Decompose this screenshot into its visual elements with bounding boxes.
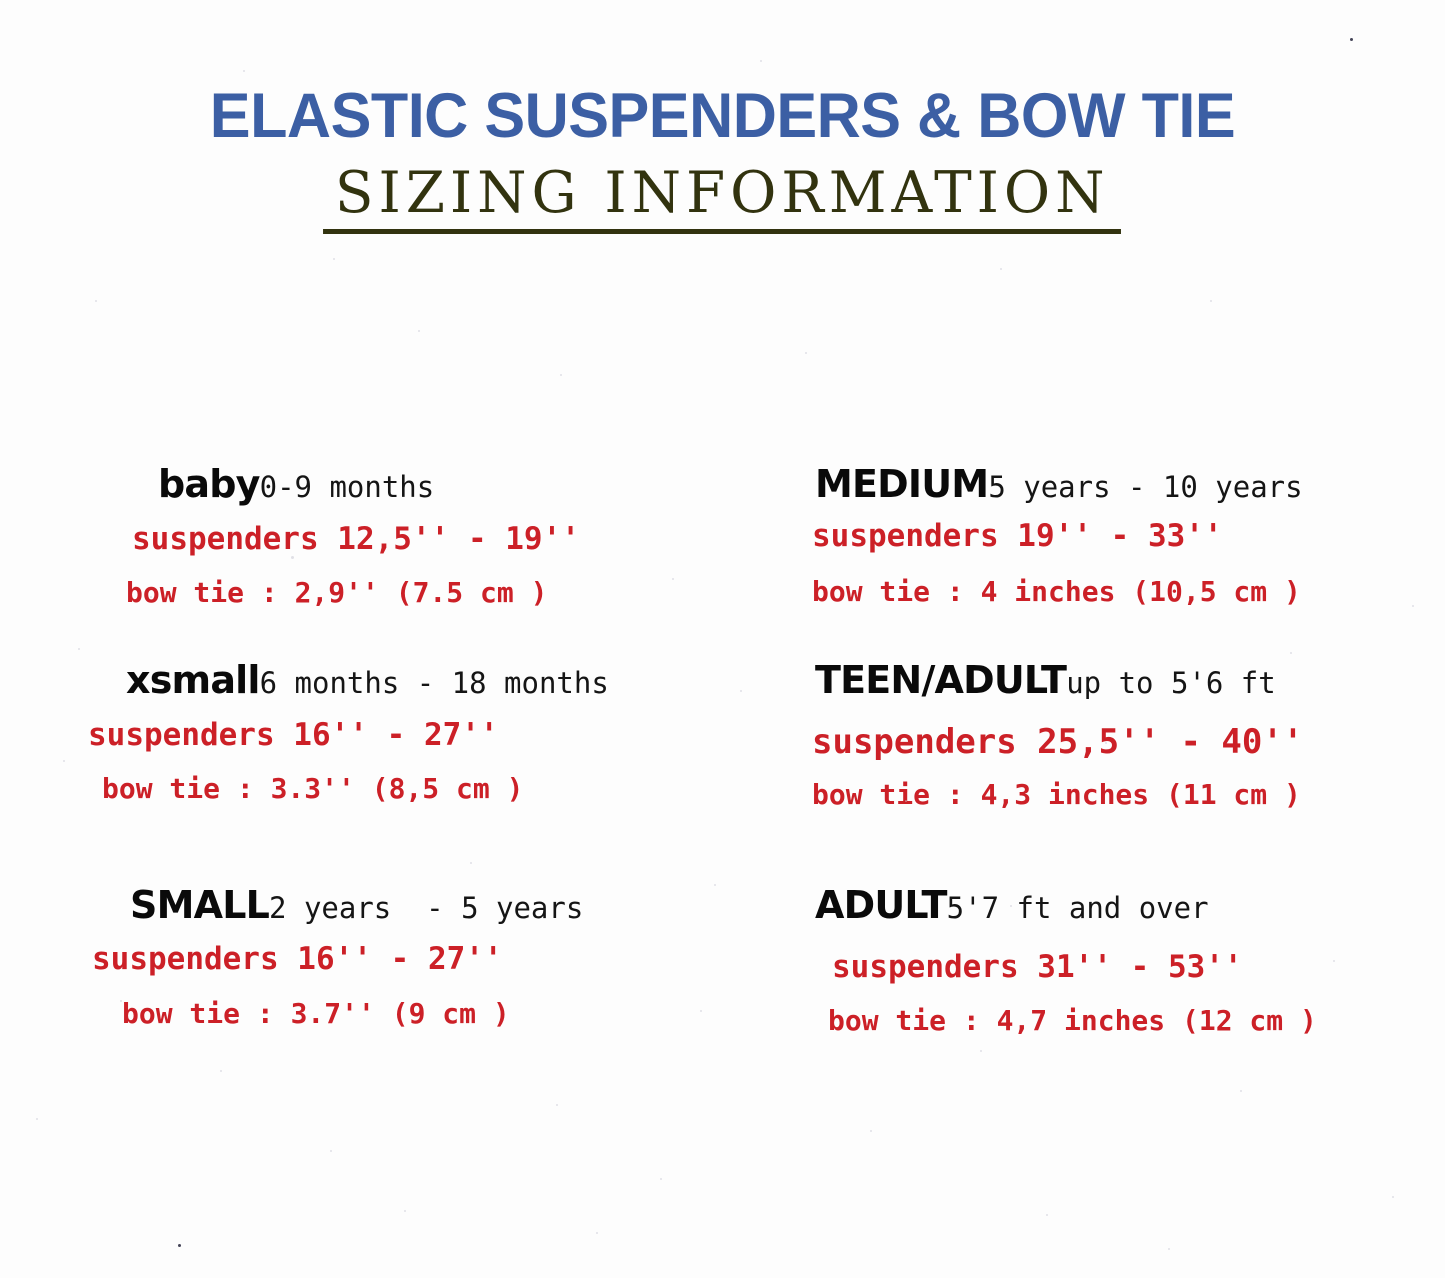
bowtie-measurement: bow tie : 4 inches (10,5 cm ) (780, 578, 1445, 606)
size-name-label: baby (158, 462, 260, 506)
size-name-label: MEDIUM (815, 462, 988, 506)
size-age-range: 2 years - 5 years (269, 891, 583, 925)
page-subtitle: SIZING INFORMATION (323, 164, 1121, 235)
bowtie-measurement: bow tie : 4,3 inches (11 cm ) (780, 781, 1445, 809)
suspenders-measurement: suspenders 16'' - 27'' (60, 720, 760, 751)
bowtie-measurement: bow tie : 4,7 inches (12 cm ) (780, 1007, 1445, 1035)
size-age-range: 5'7 ft and over (947, 891, 1209, 925)
size-age-range: 0-9 months (260, 470, 435, 504)
size-heading: ADULT5'7 ft and over (780, 886, 1445, 924)
size-age-range: up to 5'6 ft (1066, 666, 1276, 700)
page-title: ELASTIC SUSPENDERS & BOW TIE (22, 0, 1424, 150)
suspenders-measurement: suspenders 16'' - 27'' (60, 944, 760, 975)
suspenders-measurement: suspenders 25,5'' - 40'' (780, 725, 1445, 759)
suspenders-measurement: suspenders 19'' - 33'' (780, 521, 1445, 552)
size-block-baby: baby0-9 months suspenders 12,5'' - 19'' … (60, 465, 760, 607)
size-block-xsmall: xsmall6 months - 18 months suspenders 16… (60, 661, 760, 803)
size-heading: TEEN/ADULTup to 5'6 ft (780, 661, 1445, 699)
sizing-grid: baby0-9 months suspenders 12,5'' - 19'' … (0, 465, 1445, 1105)
size-heading: SMALL2 years - 5 years (60, 886, 760, 924)
size-block-adult: ADULT5'7 ft and over suspenders 31'' - 5… (780, 886, 1445, 1035)
size-name-label: ADULT (815, 883, 947, 927)
size-heading: MEDIUM5 years - 10 years (780, 465, 1445, 503)
size-age-range: 5 years - 10 years (988, 470, 1302, 504)
size-heading: baby0-9 months (60, 465, 760, 503)
bowtie-measurement: bow tie : 3.3'' (8,5 cm ) (60, 775, 760, 803)
size-name-label: TEEN/ADULT (815, 658, 1066, 702)
size-name-label: xsmall (126, 658, 260, 702)
bowtie-measurement: bow tie : 3.7'' (9 cm ) (60, 1000, 760, 1028)
size-age-range: 6 months - 18 months (260, 666, 609, 700)
page-header: ELASTIC SUSPENDERS & BOW TIE SIZING INFO… (0, 0, 1445, 234)
size-block-small: SMALL2 years - 5 years suspenders 16'' -… (60, 886, 760, 1028)
size-name-label: SMALL (130, 883, 269, 927)
suspenders-measurement: suspenders 31'' - 53'' (780, 952, 1445, 983)
size-heading: xsmall6 months - 18 months (60, 661, 760, 699)
size-block-teen-adult: TEEN/ADULTup to 5'6 ft suspenders 25,5''… (780, 661, 1445, 809)
subtitle-wrap: SIZING INFORMATION (0, 164, 1445, 235)
size-block-medium: MEDIUM5 years - 10 years suspenders 19''… (780, 465, 1445, 606)
bowtie-measurement: bow tie : 2,9'' (7.5 cm ) (60, 579, 760, 607)
suspenders-measurement: suspenders 12,5'' - 19'' (60, 524, 760, 555)
